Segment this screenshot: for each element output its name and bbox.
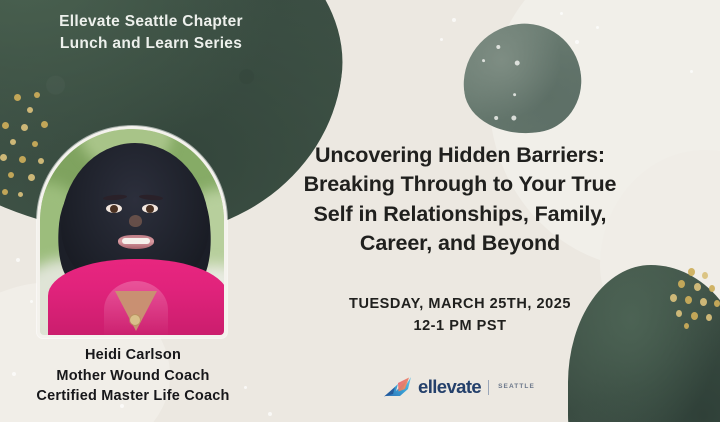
speaker-headshot: [40, 129, 224, 335]
speaker-title-1: Mother Wound Coach: [8, 366, 258, 387]
necklace-pendant: [130, 315, 140, 325]
event-time: 12-1 PM PST: [252, 316, 668, 338]
dark-green-blob-bottom-right: [568, 265, 720, 422]
title-line-3: Self in Relationships, Family,: [252, 200, 668, 229]
page-title: Uncovering Hidden Barriers: Breaking Thr…: [252, 141, 668, 259]
chapter-header: Ellevate Seattle Chapter Lunch and Learn…: [16, 11, 286, 55]
ellevate-logo: ellevate SEATTLE: [383, 376, 535, 398]
nose: [129, 215, 142, 227]
logo-divider: [488, 380, 489, 395]
event-date: TUESDAY, MARCH 25TH, 2025: [252, 294, 668, 316]
title-line-1: Uncovering Hidden Barriers:: [252, 141, 668, 170]
speaker-name: Heidi Carlson: [8, 345, 258, 366]
speaker-photo-frame: [37, 126, 227, 338]
logo-wordmark: ellevate: [418, 378, 481, 397]
teeth: [122, 238, 150, 244]
bird-icon: [383, 376, 413, 398]
speaker-caption: Heidi Carlson Mother Wound Coach Certifi…: [8, 345, 258, 407]
title-line-4: Career, and Beyond: [252, 229, 668, 258]
event-flyer: Ellevate Seattle Chapter Lunch and Learn…: [0, 0, 720, 422]
speaker-title-2: Certified Master Life Coach: [8, 386, 258, 407]
logo-chapter-name: SEATTLE: [498, 384, 535, 391]
title-line-2: Breaking Through to Your True: [252, 170, 668, 199]
header-line-1: Ellevate Seattle Chapter: [59, 13, 243, 30]
gold-dot-cluster-bottom-right: [664, 268, 720, 330]
event-datetime: TUESDAY, MARCH 25TH, 2025 12-1 PM PST: [252, 294, 668, 338]
grey-green-pebble-shape: [456, 16, 588, 141]
header-line-2: Lunch and Learn Series: [60, 35, 242, 52]
